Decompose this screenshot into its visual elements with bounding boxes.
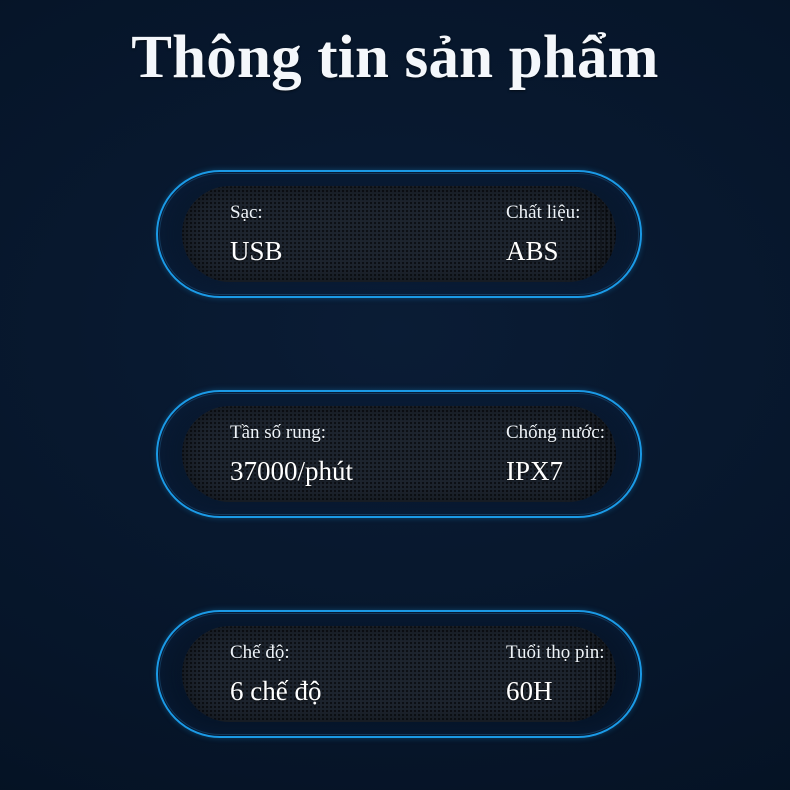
spec-field-right: Chống nước: IPX7: [486, 406, 616, 502]
spec-field-right: Tuổi thọ pin: 60H: [486, 626, 616, 722]
spec-card-panel: Tần số rung: 37000/phút Chống nước: IPX7: [182, 406, 616, 502]
spec-value: 6 chế độ: [230, 678, 486, 705]
spec-field-left: Tần số rung: 37000/phút: [182, 406, 486, 502]
spec-card-columns: Chế độ: 6 chế độ Tuổi thọ pin: 60H: [182, 626, 616, 722]
spec-field-left: Sạc: USB: [182, 186, 486, 282]
spec-value: 37000/phút: [230, 458, 486, 485]
page-title-container: Thông tin sản phẩm: [0, 26, 790, 90]
spec-label: Sạc:: [230, 203, 486, 222]
spec-card: Tần số rung: 37000/phút Chống nước: IPX7: [156, 390, 642, 518]
spec-field-right: Chất liệu: ABS: [486, 186, 616, 282]
spec-label: Tần số rung:: [230, 423, 486, 442]
spec-card-columns: Sạc: USB Chất liệu: ABS: [182, 186, 616, 282]
spec-value: 60H: [506, 678, 616, 705]
spec-label: Chế độ:: [230, 643, 486, 662]
spec-value: ABS: [506, 238, 616, 265]
spec-card-panel: Chế độ: 6 chế độ Tuổi thọ pin: 60H: [182, 626, 616, 722]
spec-card: Chế độ: 6 chế độ Tuổi thọ pin: 60H: [156, 610, 642, 738]
page-title: Thông tin sản phẩm: [131, 26, 658, 90]
spec-field-left: Chế độ: 6 chế độ: [182, 626, 486, 722]
spec-value: IPX7: [506, 458, 616, 485]
product-info-page: Thông tin sản phẩm Sạc: USB Chất liệu: A…: [0, 0, 790, 790]
spec-card-columns: Tần số rung: 37000/phút Chống nước: IPX7: [182, 406, 616, 502]
spec-label: Chống nước:: [506, 423, 616, 442]
spec-card-panel: Sạc: USB Chất liệu: ABS: [182, 186, 616, 282]
spec-label: Chất liệu:: [506, 203, 616, 222]
spec-card: Sạc: USB Chất liệu: ABS: [156, 170, 642, 298]
spec-value: USB: [230, 238, 486, 265]
spec-label: Tuổi thọ pin:: [506, 643, 616, 662]
